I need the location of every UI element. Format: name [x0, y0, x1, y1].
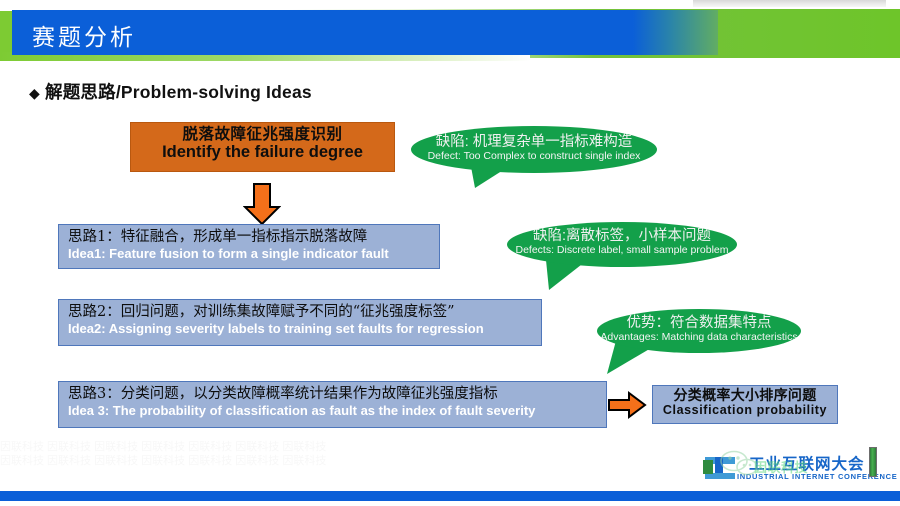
- idea-1-cn: 思路1：特征融合，形成单一指标指示脱落故障: [68, 229, 430, 245]
- callout-3-en: Advantages: Matching data characteristic…: [597, 332, 801, 343]
- callout-defect-1: 缺陷: 机理复杂单一指标难构造 Defect: Too Complex to c…: [411, 126, 659, 188]
- callout-1-en: Defect: Too Complex to construct single …: [411, 151, 657, 162]
- section-heading-label: 解题思路/Problem-solving Ideas: [45, 82, 312, 102]
- page-title: 赛题分析: [32, 18, 136, 52]
- background-watermark: 因联科技 因联科技 因联科技 因联科技 因联科技 因联科技 因联科技 因联科技 …: [0, 440, 430, 480]
- conference-logo: 工业互联网大会 INDUSTRIAL INTERNET CONFERENCE: [703, 452, 863, 486]
- idea-2-en: Idea2: Assigning severity labels to trai…: [68, 322, 532, 337]
- goal-box-en: Identify the failure degree: [131, 144, 394, 161]
- diamond-bullet-icon: ◆: [29, 85, 40, 101]
- callout-2-en: Defects: Discrete label, small sample pr…: [507, 245, 737, 256]
- callout-1-bubble: 缺陷: 机理复杂单一指标难构造 Defect: Too Complex to c…: [411, 126, 657, 173]
- logo-cn-label: 工业互联网大会: [749, 452, 865, 474]
- idea-1-en: Idea1: Feature fusion to form a single i…: [68, 247, 430, 262]
- goal-box-cn: 脱落故障征兆强度识别: [131, 127, 394, 143]
- callout-3-bubble: 优势：符合数据集特点 Advantages: Matching data cha…: [597, 309, 801, 353]
- result-box-en: Classification probability: [653, 404, 837, 418]
- callout-defect-2: 缺陷:离散标签，小样本问题 Defects: Discrete label, s…: [507, 222, 739, 290]
- idea-3-en: Idea 3: The probability of classificatio…: [68, 404, 597, 419]
- goal-box: 脱落故障征兆强度识别 Identify the failure degree: [130, 122, 395, 172]
- idea-box-3: 思路3：分类问题，以分类故障概率统计结果作为故障征兆强度指标 Idea 3: T…: [58, 381, 607, 428]
- result-box: 分类概率大小排序问题 Classification probability: [652, 385, 838, 424]
- callout-3-cn: 优势：符合数据集特点: [597, 316, 801, 332]
- callout-2-bubble: 缺陷:离散标签，小样本问题 Defects: Discrete label, s…: [507, 222, 737, 267]
- footer-blue-bar: [0, 491, 900, 501]
- slide-canvas: 赛题分析 ◆ 解题思路/Problem-solving Ideas 脱落故障征兆…: [0, 0, 900, 506]
- idea-box-2: 思路2：回归问题，对训练集故障赋予不同的“征兆强度标签” Idea2: Assi…: [58, 299, 542, 346]
- callout-advantage: 优势：符合数据集特点 Advantages: Matching data cha…: [597, 309, 803, 374]
- idea-box-1: 思路1：特征融合，形成单一指标指示脱落故障 Idea1: Feature fus…: [58, 224, 440, 269]
- idea-2-cn: 思路2：回归问题，对训练集故障赋予不同的“征兆强度标签”: [68, 304, 532, 320]
- idea-3-cn: 思路3：分类问题，以分类故障概率统计结果作为故障征兆强度指标: [68, 386, 597, 402]
- green-indicator-bar: [869, 447, 877, 477]
- top-grey-strip: [693, 0, 886, 7]
- result-box-cn: 分类概率大小排序问题: [653, 388, 837, 403]
- down-arrow-icon: [243, 182, 281, 226]
- footer-white-strip: [0, 501, 900, 506]
- section-heading: ◆ 解题思路/Problem-solving Ideas: [29, 79, 312, 104]
- callout-1-cn: 缺陷: 机理复杂单一指标难构造: [411, 135, 657, 151]
- callout-2-cn: 缺陷:离散标签，小样本问题: [507, 229, 737, 245]
- right-arrow-icon: [607, 391, 647, 419]
- header-blue-fade: [633, 10, 718, 55]
